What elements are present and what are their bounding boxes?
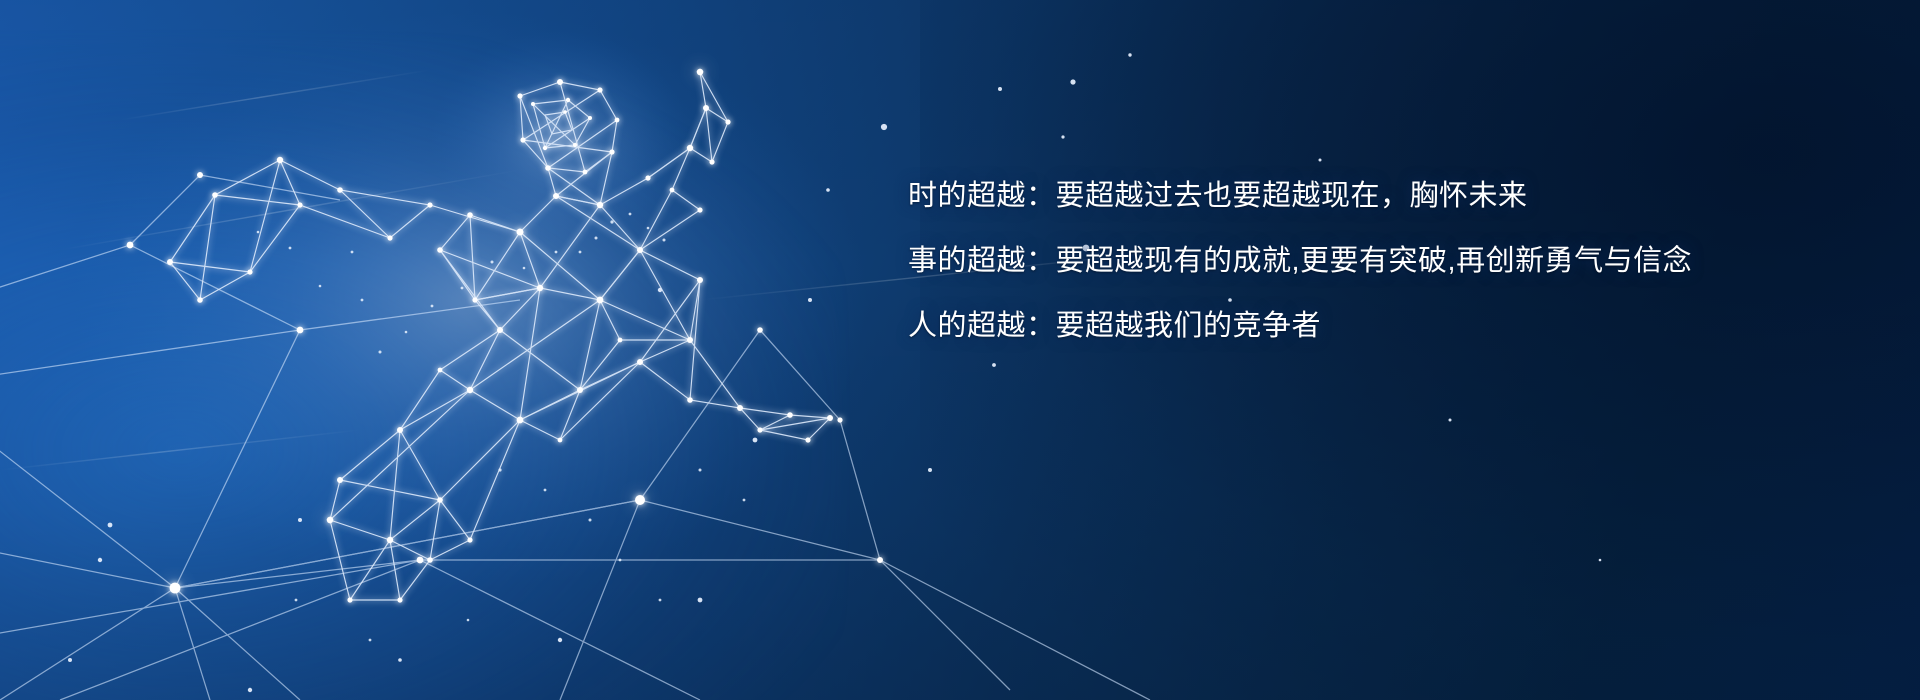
hero-banner: 时的超越：要超越过去也要超越现在，胸怀未来 事的超越：要超越现有的成就,更要有突… [0,0,1920,700]
slogan-line-matter: 事的超越：要超越现有的成就,更要有突破,再创新勇气与信念 [908,247,1808,276]
slogan-line-people: 人的超越：要超越我们的竞争者 [908,312,1808,341]
slogan-line-time: 时的超越：要超越过去也要超越现在，胸怀未来 [908,182,1808,211]
network-artwork [0,0,1920,700]
slogan-text-block: 时的超越：要超越过去也要超越现在，胸怀未来 事的超越：要超越现有的成就,更要有突… [908,182,1808,341]
